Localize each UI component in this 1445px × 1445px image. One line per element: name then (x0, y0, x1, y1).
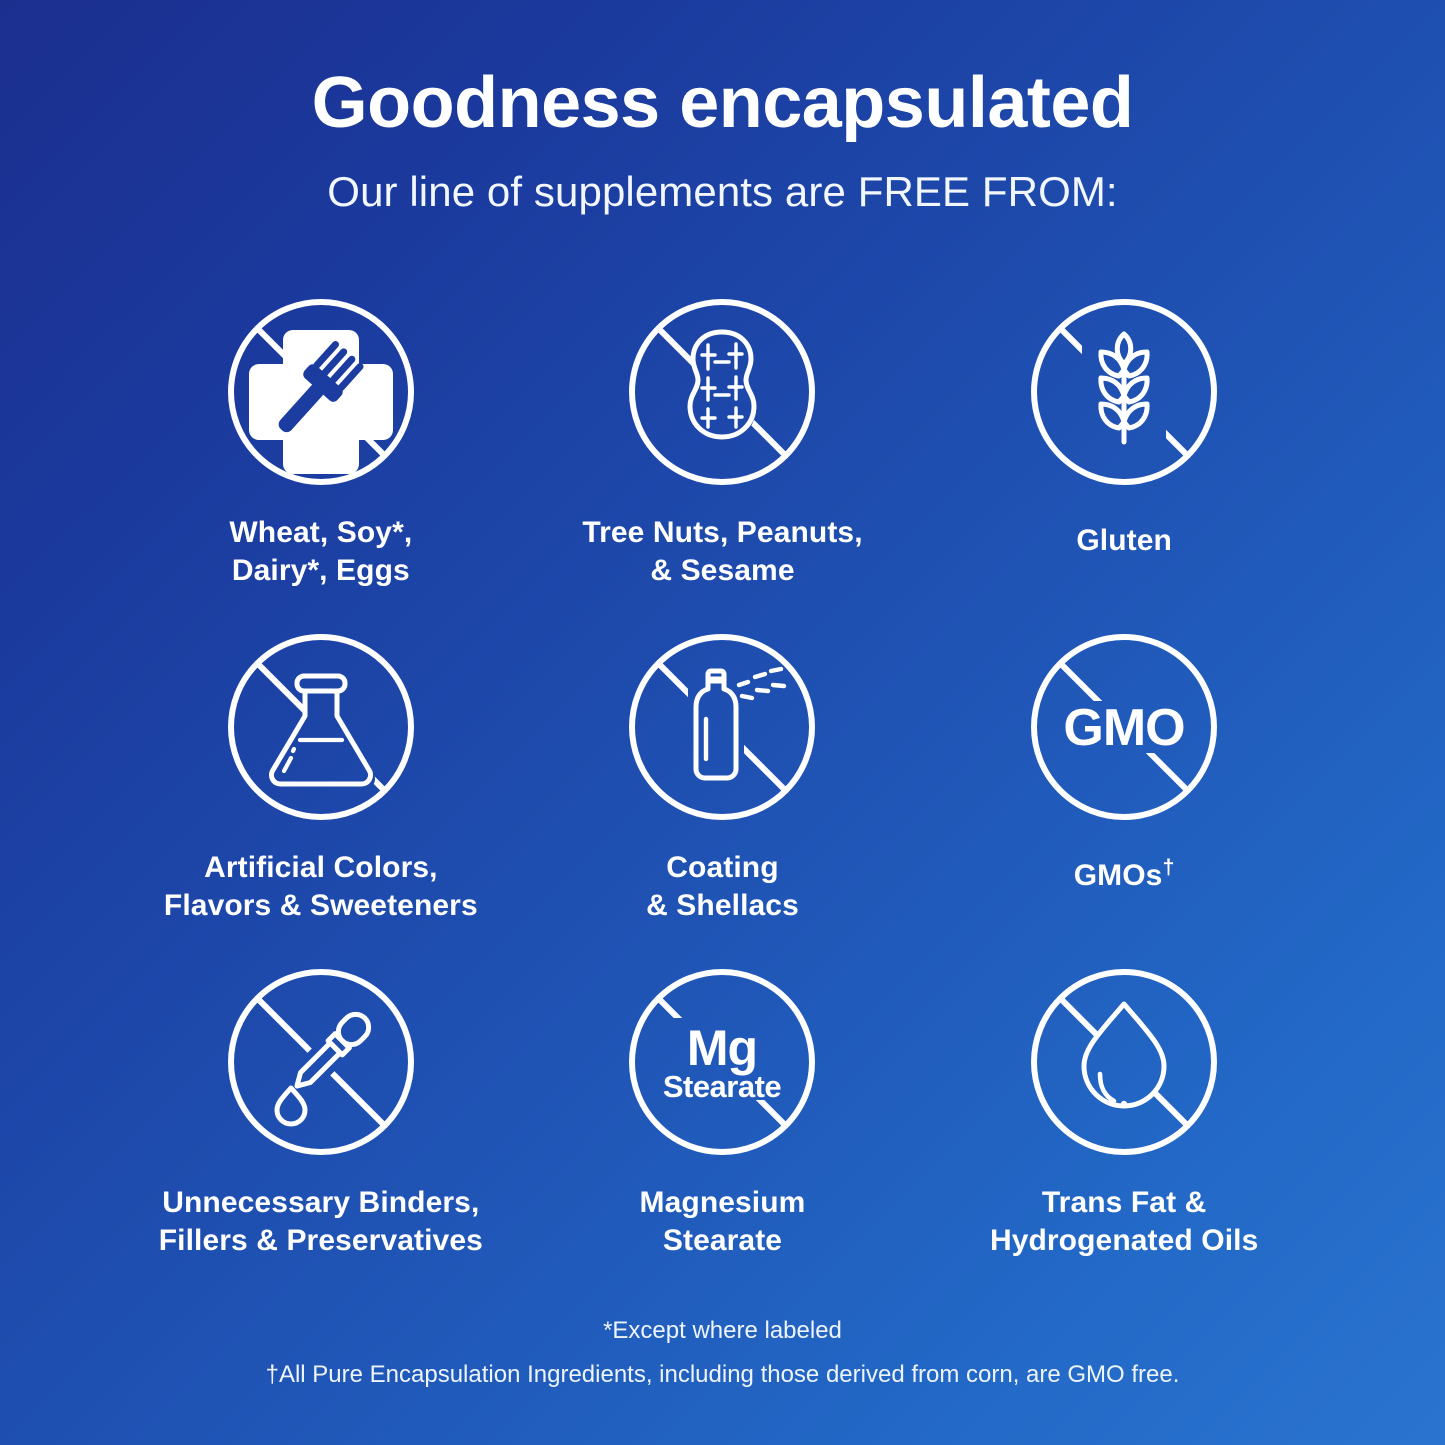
grid-item-label: GMOs† (1074, 857, 1175, 895)
grid-item-trans-fat-hydrogenated-oils: Trans Fat & Hydrogenated Oils (923, 962, 1325, 1297)
grid-item-binders-fillers-preservatives: Unnecessary Binders, Fillers & Preservat… (120, 962, 522, 1297)
grid-item-coating-shellacs: Coating & Shellacs (522, 627, 924, 962)
no-spray-can-icon (622, 627, 822, 827)
prohibition-slash (257, 663, 384, 790)
mg-icon-text: Mg (687, 1020, 757, 1076)
footnote-dagger: †All Pure Encapsulation Ingredients, inc… (0, 1357, 1445, 1393)
grid-item-wheat-soy-dairy-eggs: Wheat, Soy*, Dairy*, Eggs (120, 292, 522, 627)
no-flask-icon (221, 627, 421, 827)
grid-item-magnesium-stearate: Mg Stearate Magnesium Stearate (522, 962, 924, 1297)
grid-item-label: Coating & Shellacs (646, 849, 799, 926)
droplet-highlight-dot (1121, 1101, 1127, 1107)
header: Goodness encapsulated Our line of supple… (0, 0, 1445, 216)
no-mg-stearate-icon: Mg Stearate (622, 962, 822, 1162)
grid-item-gmos: GMO GMOs† (923, 627, 1325, 962)
infographic-page: Goodness encapsulated Our line of supple… (0, 0, 1445, 1445)
footnotes: *Except where labeled †All Pure Encapsul… (0, 1313, 1445, 1393)
footnote-asterisk: *Except where labeled (0, 1313, 1445, 1349)
grid-item-label-text: GMOs (1074, 859, 1163, 892)
spray-mist-icon (739, 669, 784, 698)
grid-item-label: Trans Fat & Hydrogenated Oils (990, 1184, 1258, 1261)
no-peanut-icon (622, 292, 822, 492)
no-gmo-icon: GMO (1024, 627, 1224, 827)
no-oil-droplet-icon (1024, 962, 1224, 1162)
grid-item-label: Artificial Colors, Flavors & Sweeteners (164, 849, 478, 926)
flask-measure-marks (284, 740, 342, 771)
page-title: Goodness encapsulated (0, 66, 1445, 142)
grid-item-gluten: Gluten (923, 292, 1325, 627)
peanut-shell (690, 332, 754, 437)
peanut-texture-lines (702, 344, 742, 427)
dropper-droplet (277, 1088, 305, 1124)
grid-item-label: Gluten (1076, 522, 1172, 560)
no-wheat-stalk-icon (1024, 292, 1224, 492)
grid-item-label: Magnesium Stearate (640, 1184, 806, 1261)
grid-item-tree-nuts-peanuts-sesame: Tree Nuts, Peanuts, & Sesame (522, 292, 924, 627)
stearate-icon-text: Stearate (663, 1069, 782, 1104)
free-from-grid: Wheat, Soy*, Dairy*, Eggs (120, 292, 1325, 1297)
page-subtitle: Our line of supplements are FREE FROM: (0, 168, 1445, 216)
no-dropper-icon (221, 962, 421, 1162)
gmo-icon-text: GMO (1064, 699, 1185, 757)
grid-item-artificial-colors-flavors-sweeteners: Artificial Colors, Flavors & Sweeteners (120, 627, 522, 962)
dagger-symbol: † (1162, 854, 1174, 879)
grid-item-label: Tree Nuts, Peanuts, & Sesame (582, 514, 862, 591)
dropper-pipette (288, 1009, 374, 1095)
grid-item-label: Wheat, Soy*, Dairy*, Eggs (229, 514, 412, 591)
grid-item-label: Unnecessary Binders, Fillers & Preservat… (159, 1184, 483, 1261)
no-cross-fork-icon (221, 292, 421, 492)
wheat-stalk (1101, 334, 1147, 442)
